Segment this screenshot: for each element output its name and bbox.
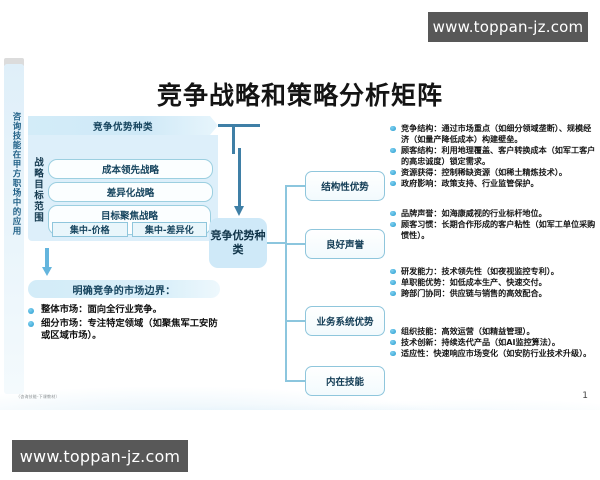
market-boundary-item-label: 细分市场：专注特定领域（如聚焦军工安防或区域市场）。	[41, 318, 218, 342]
footnote: （咨询技能-下课教材）	[16, 394, 60, 400]
tree-branch	[285, 380, 305, 382]
bullet-dot-icon	[390, 222, 396, 228]
bullet-group-structural-advantage: 竞争结构：通过市场重点（如细分领域垄断）、规模经济（如量产降低成本）构建壁垒。 …	[390, 123, 596, 189]
watermark-top: www.toppan-jz.com	[428, 12, 588, 42]
list-item: 政府影响：政策支持、行业监管保护。	[390, 178, 596, 189]
bullet-label: 组织技能：高效运营（如精益管理）。	[401, 326, 535, 336]
sub-box-focus-differentiation[interactable]: 集中-差异化	[132, 222, 208, 237]
bullet-dot-icon	[390, 170, 396, 176]
list-item: 竞争结构：通过市场重点（如细分领域垄断）、规模经济（如量产降低成本）构建壁垒。	[390, 123, 596, 145]
watermark-bottom: www.toppan-jz.com	[12, 440, 188, 472]
market-boundary-panel: 明确竞争的市场边界： 整体市场：面向全行业竞争。 细分市场：专注特定领域（如聚焦…	[28, 280, 220, 344]
tree-spine	[285, 185, 287, 381]
bullet-label: 竞争结构：通过市场重点（如细分领域垄断）、规模经济（如量产降低成本）构建壁垒。	[401, 123, 591, 144]
bullet-dot-icon	[390, 181, 396, 187]
page-number: 1	[582, 391, 588, 401]
list-item: 适应性：快速响应市场变化（如安防行业技术升级）。	[390, 348, 596, 359]
list-item: 细分市场：专注特定领域（如聚焦军工安防或区域市场）。	[28, 318, 220, 343]
slide-canvas: 咨询技能在甲方职场中的应用 竞争战略和策略分析矩阵 竞争优势种类 战略目标范围 …	[0, 58, 600, 410]
bullet-label: 技术创新：持续迭代产品（如AI监控算法）。	[401, 337, 560, 347]
arrow-to-center-node	[234, 148, 244, 218]
market-boundary-list: 整体市场：面向全行业竞争。 细分市场：专注特定领域（如聚焦军工安防或区域市场）。	[28, 304, 220, 343]
tree-branch	[285, 185, 305, 187]
bullet-dot-icon	[28, 308, 34, 314]
branch-node-structural-advantage[interactable]: 结构性优势	[305, 171, 385, 201]
bullet-label: 资源获得：控制稀缺资源（如稀土精炼技术）。	[401, 167, 567, 177]
list-item: 顾客习惯：长期合作形成的客户粘性（如军工单位采购惯性）。	[390, 219, 596, 241]
down-arrow-icon	[42, 248, 52, 276]
bullet-dot-icon	[390, 269, 396, 275]
list-item: 研发能力：技术领先性（如夜视监控专利）。	[390, 266, 596, 277]
side-tab-label: 咨询技能在甲方职场中的应用	[9, 112, 21, 236]
list-item: 跨部门协同：供应链与销售的高效配合。	[390, 288, 596, 299]
left-panel-header: 竞争优势种类	[28, 116, 218, 135]
list-item: 技术创新：持续迭代产品（如AI监控算法）。	[390, 337, 596, 348]
connector-horizontal	[218, 124, 260, 127]
bullet-dot-icon	[390, 340, 396, 346]
list-item: 顾客结构：利用地理覆盖、客户转换成本（如军工客户的高忠诚度）锁定需求。	[390, 145, 596, 167]
strategy-sub-boxes: 集中-价格 集中-差异化	[52, 222, 207, 237]
bullet-group-inner-skills: 组织技能：高效运营（如精益管理）。 技术创新：持续迭代产品（如AI监控算法）。 …	[390, 326, 596, 359]
bullet-group-reputation: 品牌声誉：如海康威视的行业标杆地位。 顾客习惯：长期合作形成的客户粘性（如军工单…	[390, 208, 596, 241]
page-title: 竞争战略和策略分析矩阵	[0, 76, 600, 112]
bullet-label: 政府影响：政策支持、行业监管保护。	[401, 178, 539, 188]
bullet-label: 跨部门协同：供应链与销售的高效配合。	[401, 288, 547, 298]
left-panel: 竞争优势种类 战略目标范围 成本领先战略 差异化战略 目标聚焦战略 集中-价格 …	[28, 116, 218, 241]
side-tab-strip: 咨询技能在甲方职场中的应用	[4, 64, 24, 394]
strategy-pill-differentiation[interactable]: 差异化战略	[48, 182, 213, 202]
bullet-dot-icon	[28, 321, 34, 327]
center-node[interactable]: 竞争优势种类	[209, 218, 267, 268]
left-panel-body: 战略目标范围 成本领先战略 差异化战略 目标聚焦战略 集中-价格 集中-差异化	[28, 135, 218, 241]
bullet-dot-icon	[390, 351, 396, 357]
list-item: 整体市场：面向全行业竞争。	[28, 304, 220, 317]
bullet-group-business-system: 研发能力：技术领先性（如夜视监控专利）。 单职能优势：如低成本生产、快速交付。 …	[390, 266, 596, 299]
list-item: 品牌声誉：如海康威视的行业标杆地位。	[390, 208, 596, 219]
bullet-label: 适应性：快速响应市场变化（如安防行业技术升级）。	[401, 348, 591, 358]
bullet-label: 品牌声誉：如海康威视的行业标杆地位。	[401, 208, 547, 218]
market-boundary-item-label: 整体市场：面向全行业竞争。	[41, 304, 162, 315]
tree-stub	[267, 242, 285, 244]
bullet-dot-icon	[390, 329, 396, 335]
list-item: 组织技能：高效运营（如精益管理）。	[390, 326, 596, 337]
bullet-dot-icon	[390, 148, 396, 154]
bullet-dot-icon	[390, 126, 396, 132]
left-panel-vertical-label: 战略目标范围	[30, 157, 43, 223]
sub-box-focus-price[interactable]: 集中-价格	[52, 222, 128, 237]
bullet-label: 研发能力：技术领先性（如夜视监控专利）。	[401, 266, 559, 276]
branch-node-inner-skills[interactable]: 内在技能	[305, 366, 385, 396]
branch-node-business-system[interactable]: 业务系统优势	[305, 306, 385, 336]
strategy-pill-cost-leadership[interactable]: 成本领先战略	[48, 159, 213, 179]
list-item: 单职能优势：如低成本生产、快速交付。	[390, 277, 596, 288]
bullet-dot-icon	[390, 280, 396, 286]
market-boundary-header: 明确竞争的市场边界：	[28, 280, 220, 298]
bullet-label: 顾客结构：利用地理覆盖、客户转换成本（如军工客户的高忠诚度）锁定需求。	[401, 145, 595, 166]
tree-branch	[285, 320, 305, 322]
bullet-dot-icon	[390, 291, 396, 297]
tree-branch	[285, 243, 305, 245]
bullet-dot-icon	[390, 211, 396, 217]
list-item: 资源获得：控制稀缺资源（如稀土精炼技术）。	[390, 167, 596, 178]
bullet-label: 顾客习惯：长期合作形成的客户粘性（如军工单位采购惯性）。	[401, 219, 595, 240]
branch-node-reputation[interactable]: 良好声誉	[305, 229, 385, 259]
bullet-label: 单职能优势：如低成本生产、快速交付。	[401, 277, 547, 287]
left-panel-header-label: 竞争优势种类	[93, 119, 153, 133]
